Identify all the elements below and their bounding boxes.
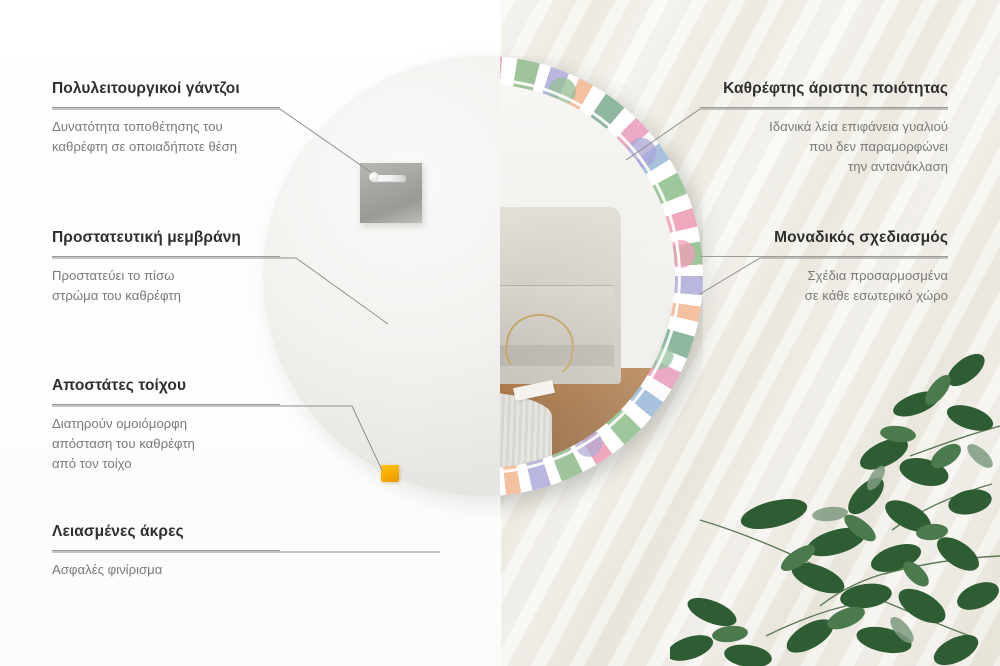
callout-smooth-edges: Λειασμένες άκρες Ασφαλές φινίρισμα (52, 523, 280, 580)
desc-line: που δεν παραμορφώνει (700, 137, 948, 157)
desc-line: σε κάθε εσωτερικό χώρο (700, 286, 948, 306)
desc-line: την αντανάκλαση (700, 157, 948, 177)
callout-unique-design: Μοναδικός σχεδιασμός Σχέδια προσαρμοσμέν… (700, 229, 948, 306)
hook-hole-icon (369, 172, 379, 182)
desc-line: Ιδανικά λεία επιφάνεια γυαλιού (700, 117, 948, 137)
callout-wall-spacers: Αποστάτες τοίχου Διατηρούν ομοιόμορφη απ… (52, 377, 280, 474)
desc-line: Ασφαλές φινίρισμα (52, 560, 280, 580)
callout-rule (52, 550, 280, 551)
callout-rule (52, 404, 280, 405)
wall-spacer-pad (381, 465, 399, 482)
callout-title: Μοναδικός σχεδιασμός (700, 229, 948, 247)
desc-line: στρώμα του καθρέφτη (52, 286, 280, 306)
callout-rule (52, 256, 280, 257)
desc-line: από τον τοίχο (52, 454, 280, 474)
callout-multifunction-hooks: Πολυλειτουργικοί γάντζοι Δυνατότητα τοπο… (52, 80, 280, 157)
callout-description: Διατηρούν ομοιόμορφη απόσταση του καθρέφ… (52, 414, 280, 474)
callout-title: Αποστάτες τοίχου (52, 377, 280, 395)
callout-title: Καθρέφτης άριστης ποιότητας (700, 80, 948, 98)
desc-line: Σχέδια προσαρμοσμένα (700, 266, 948, 286)
infographic-canvas: Πολυλειτουργικοί γάντζοι Δυνατότητα τοπο… (0, 0, 1000, 666)
desc-line: Προστατεύει το πίσω (52, 266, 280, 286)
callout-premium-mirror: Καθρέφτης άριστης ποιότητας Ιδανικά λεία… (700, 80, 948, 177)
desc-line: Διατηρούν ομοιόμορφη (52, 414, 280, 434)
callout-description: Ιδανικά λεία επιφάνεια γυαλιού που δεν π… (700, 117, 948, 177)
desc-line: Δυνατότητα τοποθέτησης του (52, 117, 280, 137)
callout-rule (700, 107, 948, 108)
callout-rule (700, 256, 948, 257)
callout-title: Προστατευτική μεμβράνη (52, 229, 280, 247)
multifunction-hook-plate (360, 163, 422, 223)
callout-description: Σχέδια προσαρμοσμένα σε κάθε εσωτερικό χ… (700, 266, 948, 306)
product-mirror (263, 56, 703, 536)
callout-protective-membrane: Προστατευτική μεμβράνη Προστατεύει το πί… (52, 229, 280, 306)
callout-description: Ασφαλές φινίρισμα (52, 560, 280, 580)
callout-title: Πολυλειτουργικοί γάντζοι (52, 80, 280, 98)
callout-title: Λειασμένες άκρες (52, 523, 280, 541)
callout-rule (52, 107, 280, 108)
callout-description: Δυνατότητα τοποθέτησης του καθρέφτη σε ο… (52, 117, 280, 157)
callout-description: Προστατεύει το πίσω στρώμα του καθρέφτη (52, 266, 280, 306)
desc-line: καθρέφτη σε οποιαδήποτε θέση (52, 137, 280, 157)
desc-line: απόσταση του καθρέφτη (52, 434, 280, 454)
